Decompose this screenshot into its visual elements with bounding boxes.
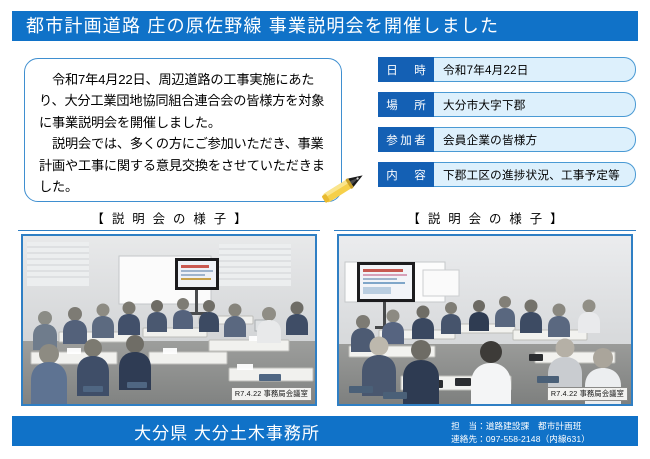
event-info-table: 日 時 令和7年4月22日 場 所 大分市大字下郡 参加者 会員企業の皆様方 内… xyxy=(378,57,636,197)
photo-right: R7.4.22 事務局会議室 xyxy=(337,234,633,406)
photo-section-heading-left: 【説明会の様子】 xyxy=(18,211,320,231)
page-title-bar: 都市計画道路 庄の原佐野線 事業説明会を開催しました xyxy=(12,11,638,41)
summary-text: 令和7年4月22日、周辺道路の工事実施にあたり、大分工業団地協同組合連合会の皆様… xyxy=(39,69,331,197)
info-label: 日 時 xyxy=(378,57,434,82)
photo-caption: R7.4.22 事務局会議室 xyxy=(231,387,312,401)
photo-section-heading-right: 【説明会の様子】 xyxy=(334,211,636,231)
info-value: 大分市大字下郡 xyxy=(434,93,635,116)
photo-left: R7.4.22 事務局会議室 xyxy=(21,234,317,406)
photo-right-image xyxy=(339,236,631,404)
info-value: 令和7年4月22日 xyxy=(434,58,635,81)
poster-page: 都市計画道路 庄の原佐野線 事業説明会を開催しました 令和7年4月22日、周辺道… xyxy=(0,0,650,459)
summary-bubble: 令和7年4月22日、周辺道路の工事実施にあたり、大分工業団地協同組合連合会の皆様… xyxy=(24,58,342,202)
info-label: 参加者 xyxy=(378,127,434,152)
photo-left-image xyxy=(23,236,315,404)
info-value: 下郡工区の進捗状況、工事予定等 xyxy=(434,163,635,186)
table-row: 参加者 会員企業の皆様方 xyxy=(378,127,636,152)
footer-contact: 担 当：道路建設課 都市計画班 連絡先：097-558-2148（内線631） xyxy=(451,420,590,446)
page-title: 都市計画道路 庄の原佐野線 事業説明会を開催しました xyxy=(12,17,499,35)
info-label: 場 所 xyxy=(378,92,434,117)
photo-heading-label: 【説明会の様子】 xyxy=(18,211,320,228)
table-row: 日 時 令和7年4月22日 xyxy=(378,57,636,82)
table-row: 内 容 下郡工区の進捗状況、工事予定等 xyxy=(378,162,636,187)
footer-contact-person: 担 当：道路建設課 都市計画班 xyxy=(451,420,590,433)
photo-caption: R7.4.22 事務局会議室 xyxy=(547,387,628,401)
footer-office-name: 大分県 大分土木事務所 xyxy=(12,416,442,446)
footer-contact-phone: 連絡先：097-558-2148（内線631） xyxy=(451,433,590,446)
photo-heading-label: 【説明会の様子】 xyxy=(334,211,636,228)
info-value: 会員企業の皆様方 xyxy=(434,128,635,151)
footer-bar: 大分県 大分土木事務所 担 当：道路建設課 都市計画班 連絡先：097-558-… xyxy=(12,416,638,446)
info-label: 内 容 xyxy=(378,162,434,187)
table-row: 場 所 大分市大字下郡 xyxy=(378,92,636,117)
